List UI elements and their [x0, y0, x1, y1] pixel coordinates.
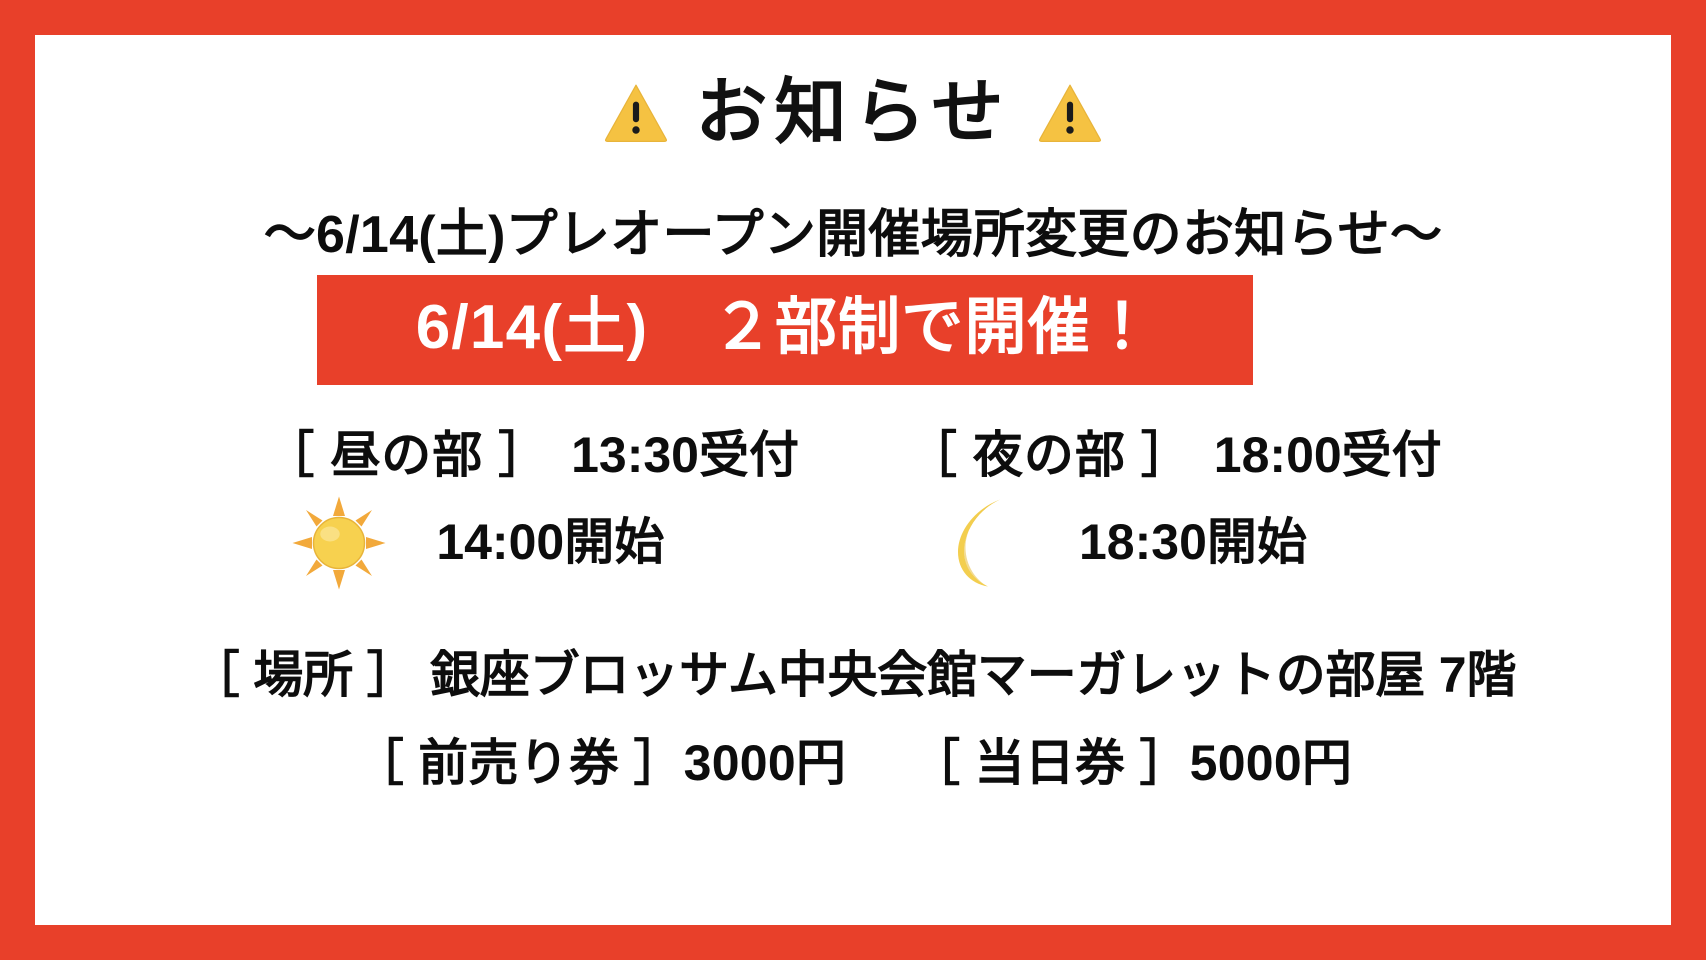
session-day: ［ 昼の部 ］ 13:30受付 — [264, 427, 799, 591]
warning-icon — [1037, 80, 1103, 146]
page-subtitle: 〜6/14(土)プレオープン開催場所変更のお知らせ〜 — [35, 207, 1671, 264]
session-day-start: 14:00開始 — [436, 514, 664, 572]
venue-label: ［ 場所 ］ — [190, 647, 417, 703]
door-ticket-label: ［ 当日券 ］ — [910, 735, 1190, 791]
session-night-reception: 18:00受付 — [1214, 427, 1442, 485]
poster-inner-panel: お知らせ 〜6/14(土)プレオープン開催場所変更のお知らせ〜 6/14(土) … — [35, 35, 1671, 925]
door-ticket-value: 5000円 — [1190, 735, 1352, 791]
session-day-header: ［ 昼の部 ］ 13:30受付 — [264, 427, 799, 485]
sessions-row: ［ 昼の部 ］ 13:30受付 — [35, 427, 1671, 591]
warning-icon — [603, 80, 669, 146]
session-day-subrow: 14:00開始 — [264, 495, 799, 591]
session-night-label: ［ 夜の部 ］ — [907, 427, 1192, 485]
session-night-start: 18:30開始 — [1079, 514, 1307, 572]
page-title: お知らせ — [695, 77, 1010, 149]
venue-value: 銀座ブロッサム中央会館マーガレットの部屋 7階 — [430, 647, 1516, 703]
tickets-line: ［ 前売り券 ］3000円［ 当日券 ］5000円 — [35, 723, 1671, 795]
highlight-banner: 6/14(土) ２部制で開催！ — [317, 275, 1253, 385]
highlight-banner-text: 6/14(土) ２部制で開催！ — [416, 297, 1155, 359]
session-night-header: ［ 夜の部 ］ 18:00受付 — [907, 427, 1442, 485]
title-row: お知らせ — [35, 77, 1671, 149]
advance-ticket-value: 3000円 — [684, 735, 846, 791]
session-night: ［ 夜の部 ］ 18:00受付 18:30開始 — [907, 427, 1442, 591]
session-night-subrow: 18:30開始 — [907, 495, 1442, 591]
notice-poster: お知らせ 〜6/14(土)プレオープン開催場所変更のお知らせ〜 6/14(土) … — [0, 0, 1706, 960]
crescent-moon-icon — [907, 495, 1057, 591]
advance-ticket-label: ［ 前売り券 ］ — [354, 735, 684, 791]
venue-line: ［ 場所 ］ 銀座ブロッサム中央会館マーガレットの部屋 7階 — [35, 635, 1671, 707]
sun-icon — [264, 495, 414, 591]
session-day-label: ［ 昼の部 ］ — [264, 427, 549, 485]
session-day-reception: 13:30受付 — [571, 427, 799, 485]
